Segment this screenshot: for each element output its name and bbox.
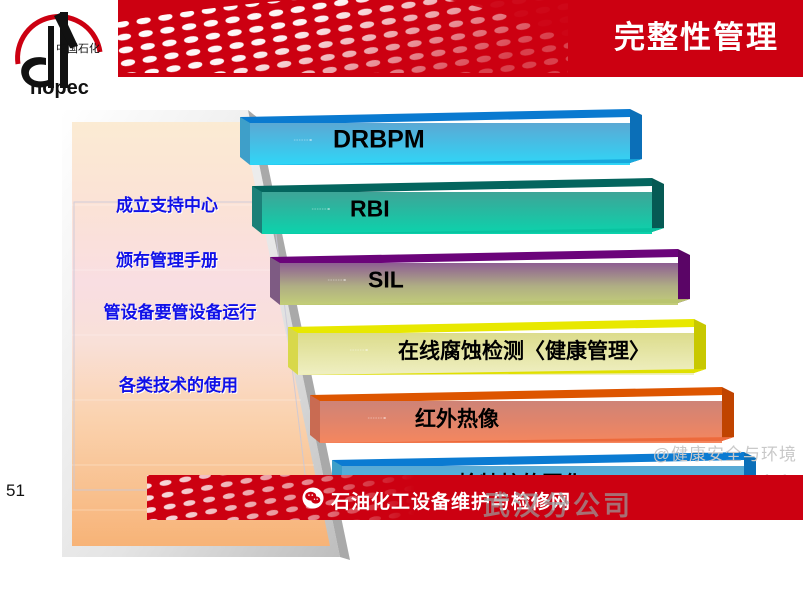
bar-label: 在线腐蚀检测〈健康管理〉 bbox=[398, 335, 650, 365]
bar-label: 红外热像 bbox=[415, 403, 499, 433]
bar-sil[interactable]: SIL bbox=[270, 249, 690, 311]
logo-chinese-text: 中国石化 bbox=[56, 41, 100, 55]
panel-item-3: 各类技术的使用 bbox=[86, 375, 271, 396]
bar-label: RBI bbox=[350, 196, 390, 223]
bar-label: DRBPM bbox=[333, 126, 425, 155]
page-title: 完整性管理 bbox=[614, 12, 779, 57]
bar-drbpm[interactable]: DRBPM bbox=[240, 109, 642, 171]
bar-online-corrosion[interactable]: 在线腐蚀检测〈健康管理〉 bbox=[288, 319, 706, 381]
footer-banner: 石油化工设备维护与检修网 bbox=[147, 475, 803, 520]
bar-label: SIL bbox=[368, 267, 404, 294]
panel-item-0: 成立支持中心 bbox=[82, 195, 252, 216]
slide-header: 完整性管理 bbox=[0, 0, 803, 73]
header-dot-pattern bbox=[108, 0, 568, 73]
page-number: 51 bbox=[6, 481, 25, 501]
bar-rbi[interactable]: RBI bbox=[252, 178, 664, 240]
sinopec-logo: 中国石化 nopec bbox=[4, 2, 116, 102]
panel-item-2: 管设备要管设备运行 bbox=[90, 302, 270, 323]
watermark-hse: @健康安全与环境 bbox=[653, 440, 797, 465]
wechat-icon bbox=[302, 487, 324, 509]
logo-wordmark: nopec bbox=[30, 77, 89, 99]
panel-item-1: 颁布管理手册 bbox=[82, 250, 252, 271]
watermark-branch: 武汉分公司 bbox=[483, 484, 633, 523]
